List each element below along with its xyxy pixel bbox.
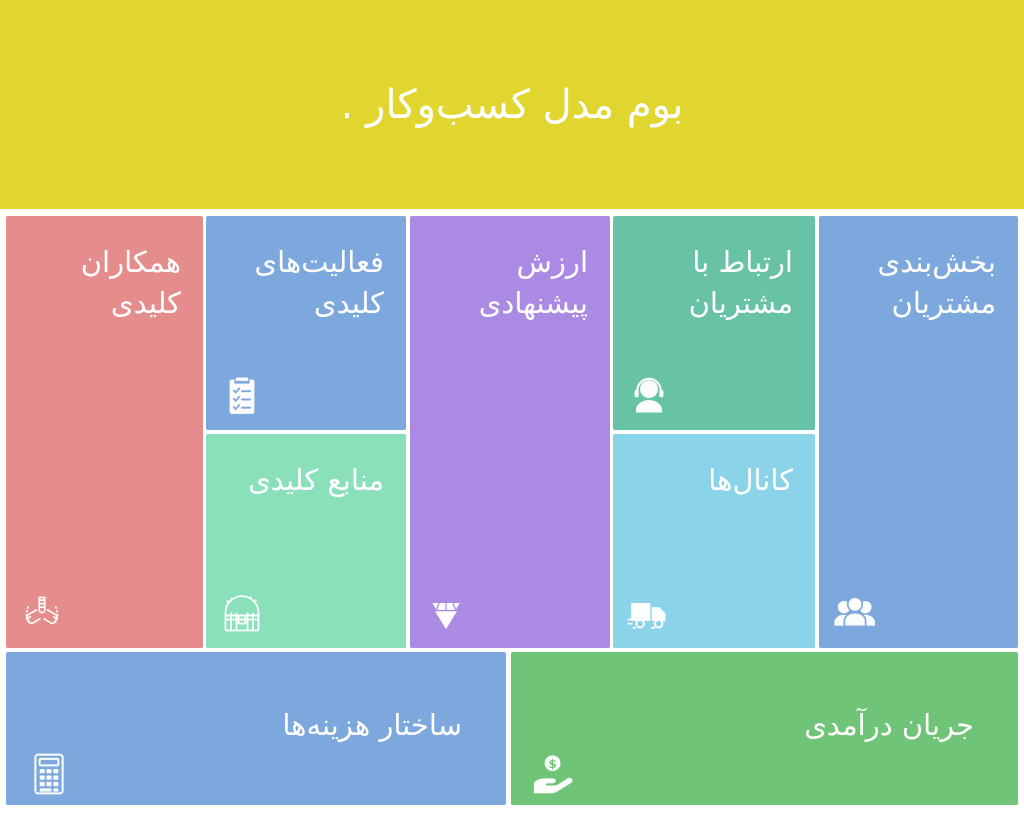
treasure-chest-icon [220, 592, 264, 636]
diamond-gem-icon [424, 592, 468, 636]
clipboard-checklist-icon [220, 374, 264, 418]
block-value-proposition[interactable]: ارزش پیشنهادی [410, 216, 610, 648]
delivery-truck-icon [627, 592, 671, 636]
block-key-activities[interactable]: فعالیت‌های کلیدی [206, 216, 406, 430]
block-value-proposition-label: ارزش پیشنهادی [432, 242, 588, 324]
svg-text:$: $ [549, 757, 557, 771]
hand-holding-dollar-icon: $ [531, 751, 577, 797]
headset-support-agent-icon [627, 374, 671, 418]
calculator-icon [26, 751, 72, 797]
users-group-icon [833, 592, 877, 636]
block-customer-segments-label: بخش‌بندی مشتریان [841, 242, 996, 324]
block-revenue-streams-label: جریان درآمدی [555, 705, 974, 746]
block-key-partners[interactable]: همکاران کلیدی [6, 216, 203, 648]
handshake-teamwork-icon [20, 592, 64, 636]
block-customer-relationships[interactable]: ارتباط با مشتریان [613, 216, 815, 430]
business-model-canvas: بوم مدل کسب‌وکار . همکاران کلیدی فعالیت‌… [0, 0, 1024, 813]
block-revenue-streams[interactable]: جریان درآمدی $ [511, 652, 1018, 805]
block-cost-structure[interactable]: ساختار هزینه‌ها [6, 652, 506, 805]
block-key-activities-label: فعالیت‌های کلیدی [228, 242, 384, 324]
block-channels[interactable]: کانال‌ها [613, 434, 815, 648]
block-customer-segments[interactable]: بخش‌بندی مشتریان [819, 216, 1018, 648]
canvas-header: بوم مدل کسب‌وکار . [0, 0, 1024, 209]
block-key-resources-label: منابع کلیدی [228, 460, 384, 501]
block-key-partners-label: همکاران کلیدی [28, 242, 181, 324]
block-channels-label: کانال‌ها [635, 460, 793, 501]
block-customer-relationships-label: ارتباط با مشتریان [635, 242, 793, 324]
block-cost-structure-label: ساختار هزینه‌ها [50, 705, 462, 746]
page-title: بوم مدل کسب‌وکار . [341, 81, 684, 129]
block-key-resources[interactable]: منابع کلیدی [206, 434, 406, 648]
